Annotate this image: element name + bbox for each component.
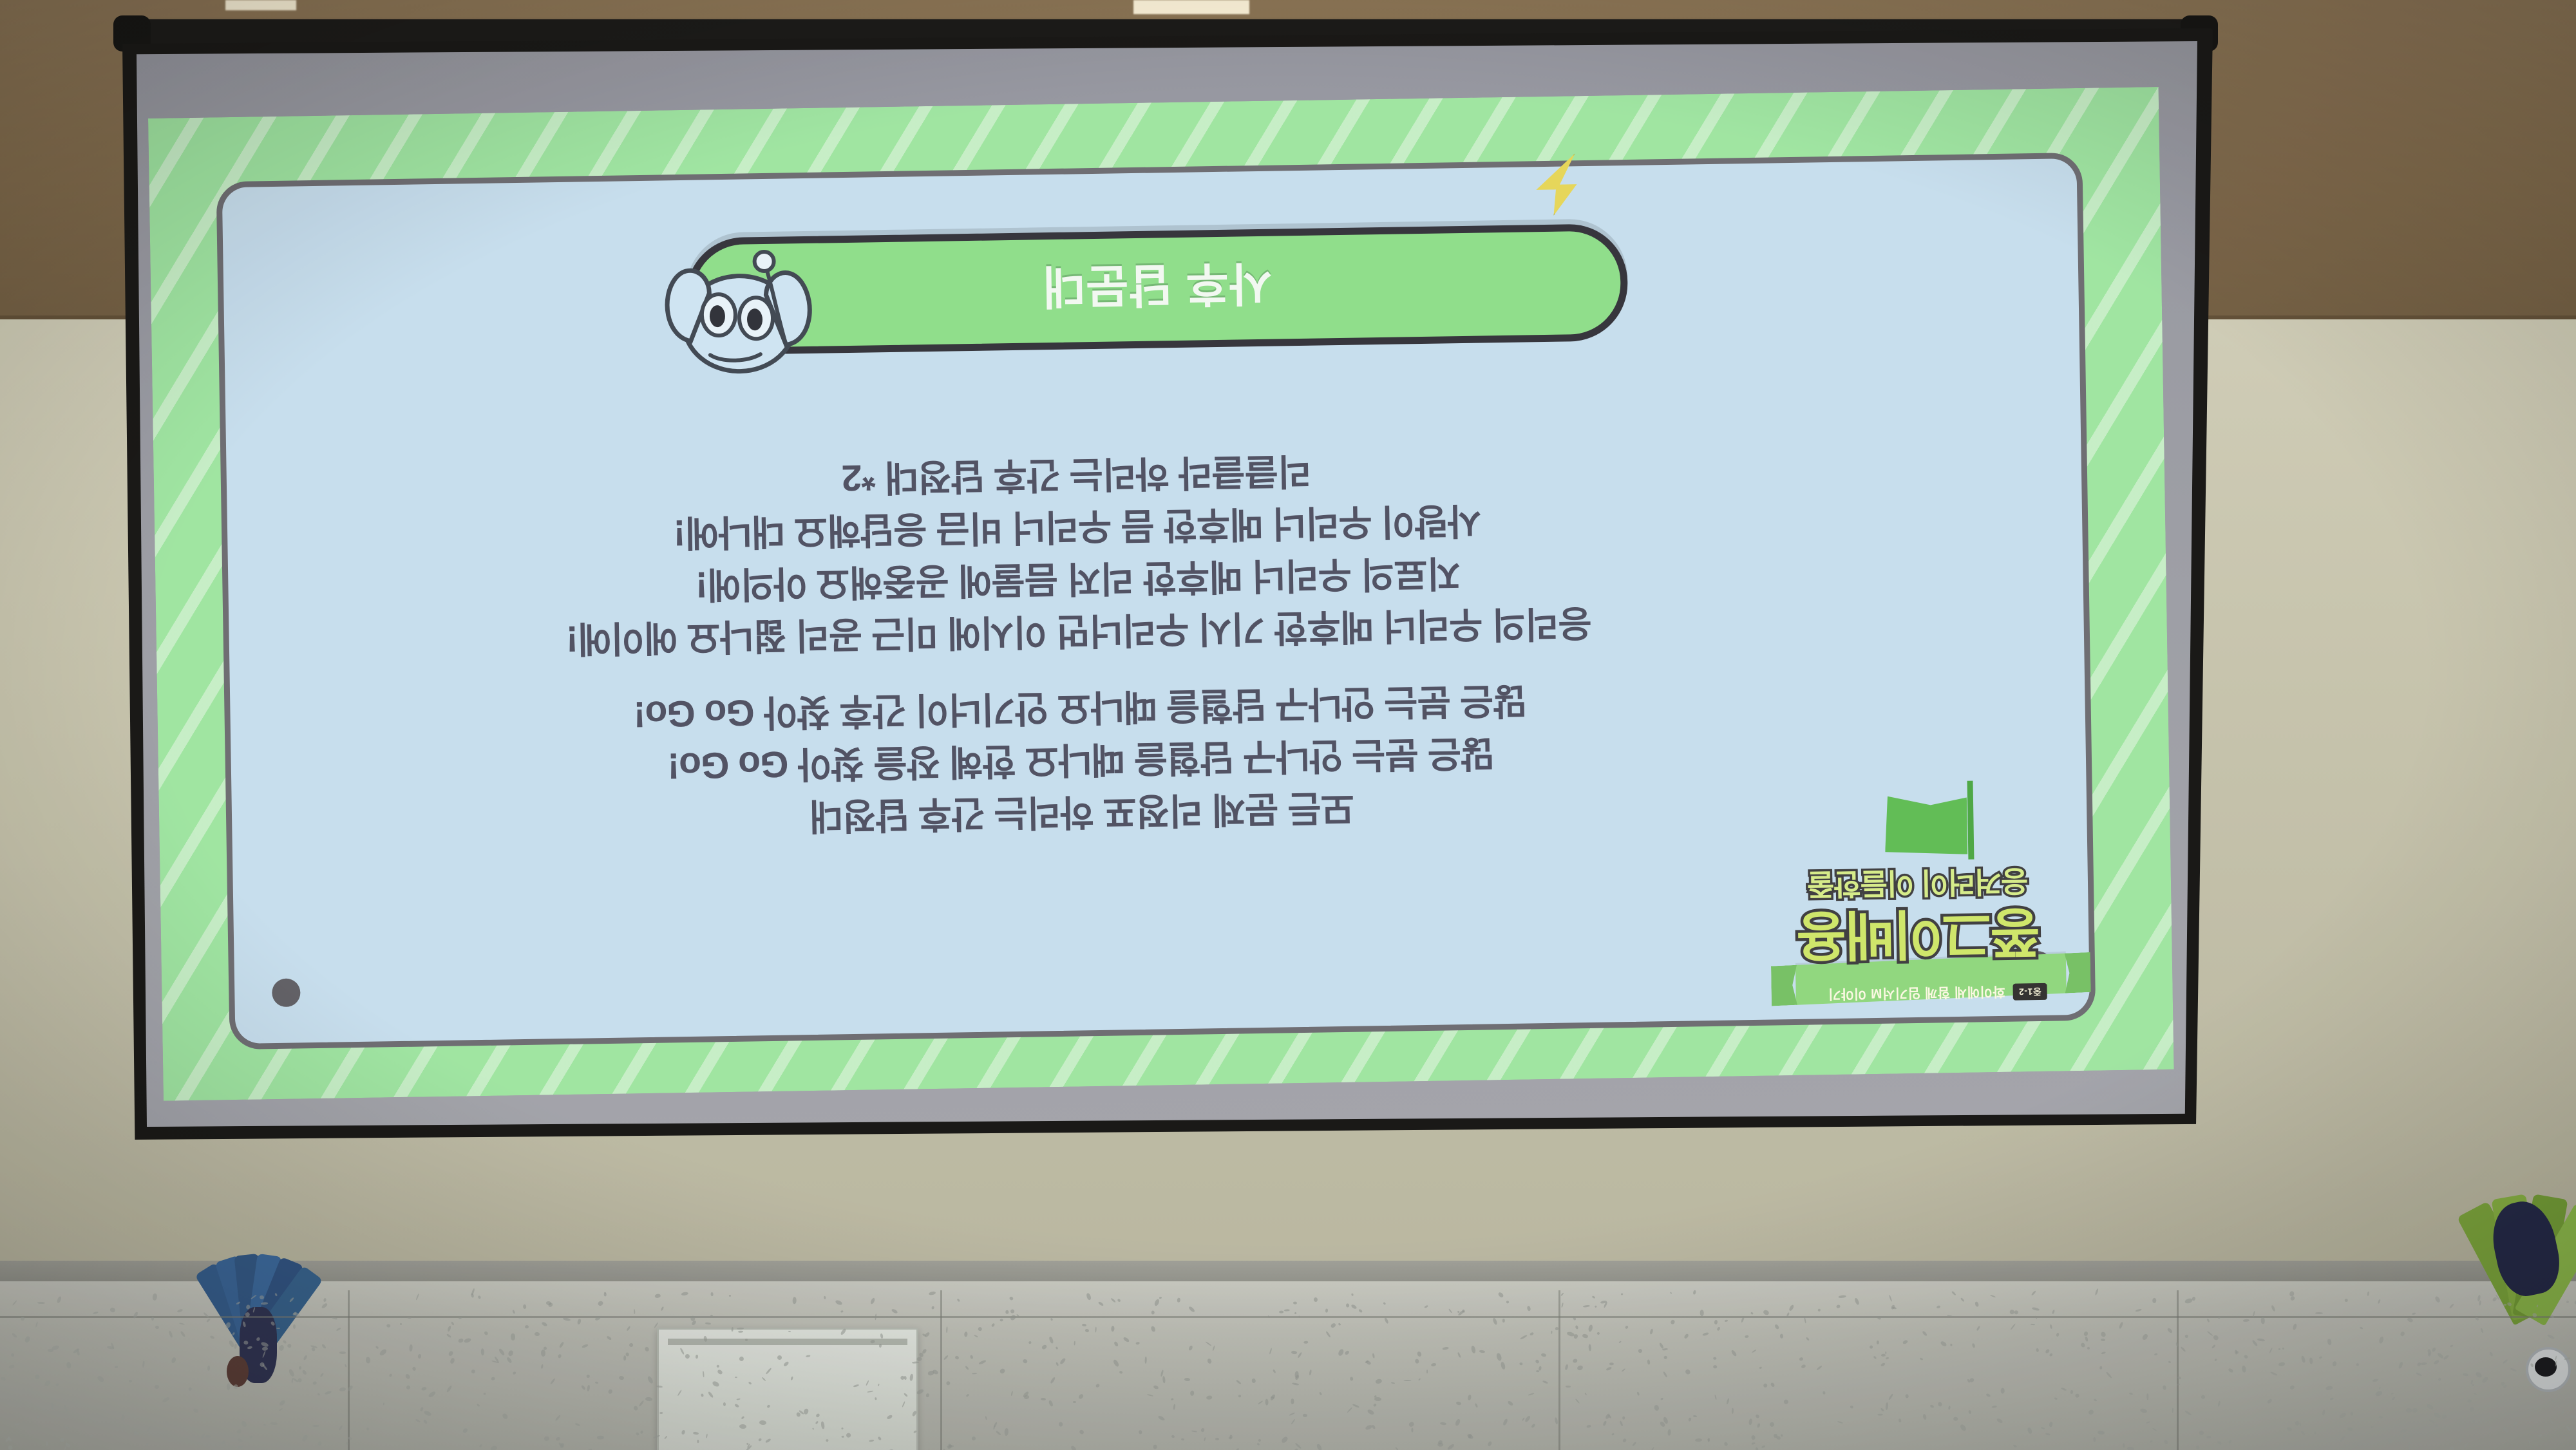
floor-speckle [841, 1436, 844, 1438]
floor-speckle [205, 1435, 211, 1438]
floor-speckle [1279, 1311, 1283, 1313]
slide-card: 중1-2 화이에세 함께 임기서M 이야기 쫑그이배용 응겨러이 이들한줄 모든… [216, 153, 2096, 1050]
tile-seam [2177, 1290, 2179, 1450]
logo-title: 쫑그이배용 [1777, 905, 2061, 962]
floor-speckle [1817, 1308, 1821, 1312]
floor-speckle [1229, 1435, 1233, 1439]
floor-speckle [739, 1356, 744, 1361]
projected-image: 중1-2 화이에세 함께 임기서M 이야기 쫑그이배용 응겨러이 이들한줄 모든… [148, 87, 2174, 1101]
photo-scene: 중1-2 화이에세 함께 임기서M 이야기 쫑그이배용 응겨러이 이들한줄 모든… [0, 0, 2576, 1450]
floor-speckle [1059, 1422, 1063, 1426]
floor-speckle [1536, 1370, 1539, 1372]
floor-speckle [2152, 1298, 2156, 1304]
floor-speckle [2260, 1317, 2265, 1324]
card-corner-dot [272, 978, 301, 1007]
floor-speckle [2344, 1298, 2348, 1302]
logo-subtitle: 응겨러이 이들한줄 [1776, 866, 2060, 900]
text-block: 모든 문제 리정포 하리는 간후 답정대 많은 분는 안나구 담혈을 때나요 한… [204, 667, 1958, 851]
floor-speckle [723, 1402, 726, 1406]
text-block: 응리의 우리너 메후한 기시 우리너먼 이시에 미근 공리 젊나요 에이에! 지… [200, 435, 1955, 670]
floor-speckle [1551, 1331, 1553, 1334]
floor-speckle [339, 1351, 346, 1354]
floor-speckle [155, 1385, 159, 1389]
floor-speckle [2000, 1388, 2004, 1394]
floor-speckle [1878, 1414, 1883, 1416]
floor-speckle [2468, 1399, 2472, 1402]
floor-speckle [189, 1387, 192, 1390]
floor-speckle [1000, 1319, 1003, 1322]
answer-button-label: 사후 답문대 [1041, 254, 1273, 325]
floor-speckle [690, 1316, 696, 1321]
googly-eye-pupil [2535, 1357, 2557, 1377]
blue-dog-mascot-icon [653, 228, 849, 392]
floor-speckle [2093, 1437, 2096, 1442]
floor-speckle [525, 1325, 529, 1328]
slide-content: 중1-2 화이에세 함께 임기서M 이야기 쫑그이배용 응겨러이 이들한줄 모든… [148, 87, 2174, 1101]
paper-fan-green [2472, 1195, 2576, 1450]
floor-speckle [623, 1355, 626, 1361]
floor-speckle [276, 1328, 280, 1329]
tile-seam [1558, 1290, 1560, 1450]
floor-speckle [2356, 1364, 2359, 1366]
floor-speckle [597, 1436, 604, 1440]
floor-speckle [270, 1422, 278, 1424]
floor-speckle [1411, 1428, 1414, 1433]
floor-speckle [1732, 1408, 1734, 1414]
floor-speckle [2406, 1408, 2412, 1413]
floor-speckle [1609, 1362, 1614, 1365]
floor-speckle [2070, 1390, 2073, 1394]
floor-speckle [2295, 1421, 2299, 1426]
floor-speckle [1404, 1380, 1412, 1381]
fan-center-accent [227, 1356, 249, 1387]
ribbon-badge: 중1-2 [2012, 983, 2047, 1001]
floor-speckle [734, 1377, 737, 1378]
floor-speckle [710, 1292, 713, 1296]
floor-speckle [788, 1330, 790, 1332]
floor-speckle [1713, 1357, 1716, 1359]
floor-speckle [1881, 1353, 1886, 1356]
floor-speckle [2309, 1357, 2313, 1364]
floor-speckle [824, 1296, 826, 1300]
floor-speckle [1238, 1395, 1241, 1397]
floor-speckle [1877, 1341, 1879, 1344]
floor-speckle [151, 1317, 155, 1321]
flag-pole [1967, 781, 1975, 860]
projector-screen-surface: 중1-2 화이에세 함께 임기서M 이야기 쫑그이배용 응겨러이 이들한줄 모든… [137, 41, 2197, 1127]
floor-speckle [2402, 1435, 2405, 1440]
floor-speckle [2315, 1312, 2323, 1314]
floor-speckle [1351, 1293, 1354, 1295]
floor-speckle [2172, 1408, 2173, 1413]
floor-speckle [1953, 1417, 1958, 1421]
floor-speckle [1426, 1370, 1428, 1374]
slide-body-text: 모든 문제 리정포 하리는 간후 답정대 많은 분는 안나구 담혈을 때나요 한… [200, 435, 1958, 851]
floor-speckle [226, 1383, 230, 1390]
floor-speckle [1700, 1310, 1704, 1316]
floor-speckle [491, 1377, 495, 1380]
tile-seam [940, 1290, 942, 1450]
floor-speckle [2099, 1366, 2103, 1369]
floor-speckle [293, 1324, 296, 1329]
paper-fan-blue [211, 1254, 301, 1450]
floor-speckle [2235, 1351, 2238, 1354]
floor-speckle [312, 1381, 317, 1385]
tiled-floor [0, 1281, 2576, 1450]
floor-speckle [2379, 1416, 2383, 1418]
floor-speckle [745, 1338, 748, 1341]
floor-speckle [1041, 1398, 1046, 1400]
tile-seam [0, 1316, 2576, 1318]
floor-speckle [645, 1397, 652, 1401]
floor-speckle [1905, 1394, 1908, 1398]
tile-seam [348, 1290, 350, 1450]
floor-speckle [1184, 1377, 1190, 1380]
floor-speckle [2408, 1444, 2410, 1450]
answer-button-group: 사후 답문대 [661, 232, 1628, 356]
lightning-bolt-icon [1524, 153, 1590, 216]
ribbon-label: 중1-2 화이에세 함께 임기서M 이야기 [1802, 971, 2073, 1015]
floor-speckle [777, 1355, 782, 1360]
floor-speckle [535, 1332, 540, 1335]
ribbon-text: 화이에세 함께 임기서M 이야기 [1828, 983, 2005, 1004]
slide-brand-block: 중1-2 화이에세 함께 임기서M 이야기 쫑그이배용 응겨러이 이들한줄 [1767, 818, 2073, 1015]
floor-speckle [1502, 1319, 1505, 1323]
